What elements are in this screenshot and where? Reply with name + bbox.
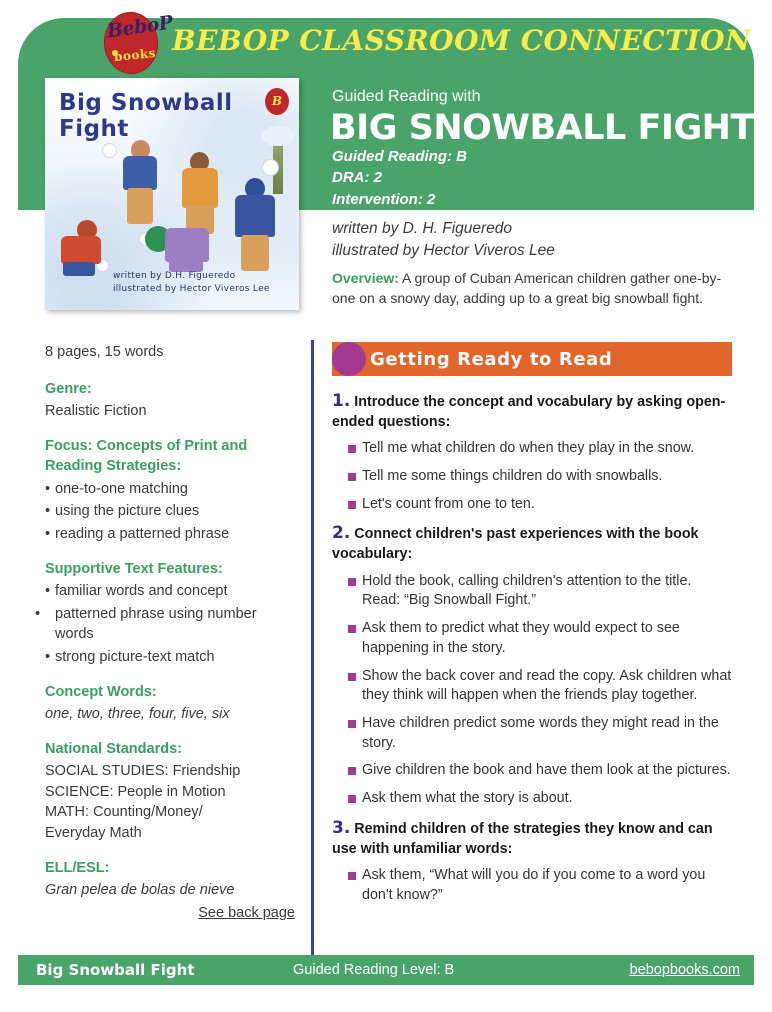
focus-item: •reading a patterned phrase xyxy=(45,524,295,545)
step-bullet-list: Ask them, “What will you do if you come … xyxy=(332,866,732,905)
step-number: 1. xyxy=(332,391,350,411)
list-item: Tell me what children do when they play … xyxy=(332,439,732,459)
square-bullet-icon xyxy=(348,445,356,453)
supportive-item: •familiar words and concept xyxy=(45,581,295,602)
cover-child-figure xyxy=(143,220,213,274)
level-dra: DRA: 2 xyxy=(332,167,467,188)
square-bullet-icon xyxy=(348,872,356,880)
square-bullet-icon xyxy=(348,473,356,481)
step-number: 3. xyxy=(332,818,350,838)
cover-snowball xyxy=(103,144,116,157)
step-heading-text: Connect children's past experiences with… xyxy=(332,526,699,562)
focus-item-label: one-to-one matching xyxy=(55,481,188,497)
guided-reading-with-label: Guided Reading with xyxy=(332,88,481,106)
list-item-label: Let's count from one to ten. xyxy=(362,496,535,512)
square-bullet-icon xyxy=(348,625,356,633)
step-item: 3. Remind children of the strategies the… xyxy=(332,817,732,906)
list-item: Show the back cover and read the copy. A… xyxy=(332,667,732,706)
supportive-item: •patterned phrase using number words xyxy=(45,604,295,645)
square-bullet-icon xyxy=(348,673,356,681)
banner-title: BEBOP CLASSROOM CONNECTION xyxy=(172,24,751,57)
cover-child-figure xyxy=(57,218,113,276)
standard-item: SOCIAL STUDIES: Friendship xyxy=(45,761,295,782)
byline: written by D. H. Figueredo illustrated b… xyxy=(332,218,555,263)
national-standards-list: SOCIAL STUDIES: Friendship SCIENCE: Peop… xyxy=(45,761,295,843)
square-bullet-icon xyxy=(348,578,356,586)
pages-words: 8 pages, 15 words xyxy=(45,342,295,363)
list-item: Have children predict some words they mi… xyxy=(332,714,732,753)
supportive-item-label: strong picture-text match xyxy=(55,649,215,665)
illustrated-by: illustrated by Hector Viveros Lee xyxy=(332,240,555,262)
list-item-label: Tell me some things children do with sno… xyxy=(362,468,662,484)
step-heading-text: Remind children of the strategies they k… xyxy=(332,821,713,857)
list-item-label: Ask them to predict what they would expe… xyxy=(362,620,680,656)
concept-words-heading: Concept Words: xyxy=(45,682,295,703)
cover-snowball xyxy=(263,160,278,175)
standard-item: SCIENCE: People in Motion xyxy=(45,782,295,803)
section-title: Getting Ready to Read xyxy=(370,349,612,370)
bullet-dot-icon: • xyxy=(45,604,55,625)
supportive-item-label: patterned phrase using number words xyxy=(55,606,257,643)
written-by: written by D. H. Figueredo xyxy=(332,218,555,240)
step-heading: 2. Connect children's past experiences w… xyxy=(332,522,732,564)
ell-esl-heading: ELL/ESL: xyxy=(45,858,295,879)
genre-heading: Genre: xyxy=(45,379,295,400)
bullet-dot-icon: • xyxy=(45,479,55,500)
step-heading-text: Introduce the concept and vocabulary by … xyxy=(332,394,725,430)
step-bullet-list: Tell me what children do when they play … xyxy=(332,439,732,514)
ell-esl-value: Gran pelea de bolas de nieve xyxy=(45,880,295,901)
list-item-label: Tell me what children do when they play … xyxy=(362,440,694,456)
supportive-item-label: familiar words and concept xyxy=(55,583,227,599)
concept-words-value: one, two, three, four, five, six xyxy=(45,704,295,725)
list-item-label: Ask them what the story is about. xyxy=(362,790,573,806)
list-item-label: Show the back cover and read the copy. A… xyxy=(362,668,731,704)
reading-levels: Guided Reading: B DRA: 2 Intervention: 2 xyxy=(332,146,467,210)
square-bullet-icon xyxy=(348,795,356,803)
overview-paragraph: Overview: A group of Cuban American chil… xyxy=(332,268,730,309)
footer-book-title: Big Snowball Fight xyxy=(36,961,195,979)
column-divider xyxy=(311,340,314,956)
focus-item: •one-to-one matching xyxy=(45,479,295,500)
bullet-dot-icon: • xyxy=(45,524,55,545)
list-item-label: Hold the book, calling children's attent… xyxy=(362,573,691,609)
overview-label: Overview: xyxy=(332,270,399,286)
list-item: Give children the book and have them loo… xyxy=(332,761,732,781)
getting-ready-section-header: Getting Ready to Read xyxy=(332,342,732,376)
genre-value: Realistic Fiction xyxy=(45,401,295,422)
list-item: Let's count from one to ten. xyxy=(332,495,732,515)
list-item-label: Have children predict some words they mi… xyxy=(362,715,719,751)
national-standards-heading: National Standards: xyxy=(45,739,295,760)
step-heading: 1. Introduce the concept and vocabulary … xyxy=(332,390,732,432)
left-sidebar: 8 pages, 15 words Genre: Realistic Ficti… xyxy=(45,342,295,923)
focus-item-label: using the picture clues xyxy=(55,503,199,519)
cover-title: Big Snowball Fight xyxy=(59,90,299,142)
supportive-item: •strong picture-text match xyxy=(45,647,295,668)
section-knob-icon xyxy=(332,342,349,376)
footer-website-link[interactable]: bebopbooks.com xyxy=(630,962,740,978)
page-footer: Big Snowball Fight Guided Reading Level:… xyxy=(18,955,754,985)
page-title: BIG SNOWBALL FIGHT xyxy=(330,108,754,148)
cover-illustrated-by: illustrated by Hector Viveros Lee xyxy=(113,283,270,296)
list-item: Ask them, “What will you do if you come … xyxy=(332,866,732,905)
cover-credits: written by D.H. Figueredo illustrated by… xyxy=(113,270,270,296)
square-bullet-icon xyxy=(348,767,356,775)
list-item: Hold the book, calling children's attent… xyxy=(332,572,732,611)
level-guided-reading: Guided Reading: B xyxy=(332,146,467,167)
cover-child-figure xyxy=(119,136,163,228)
step-item: 1. Introduce the concept and vocabulary … xyxy=(332,390,732,514)
list-item: Ask them to predict what they would expe… xyxy=(332,619,732,658)
square-bullet-icon xyxy=(348,720,356,728)
see-back-page-link[interactable]: See back page xyxy=(45,903,295,924)
list-item-label: Ask them, “What will you do if you come … xyxy=(362,867,705,903)
list-item-label: Give children the book and have them loo… xyxy=(362,762,731,778)
footer-reading-level: Guided Reading Level: B xyxy=(293,962,454,978)
bullet-dot-icon: • xyxy=(45,581,55,602)
cover-level-badge: B xyxy=(265,88,289,115)
list-item: Ask them what the story is about. xyxy=(332,789,732,809)
bullet-dot-icon: • xyxy=(45,647,55,668)
square-bullet-icon xyxy=(348,501,356,509)
right-content: Getting Ready to Read 1. Introduce the c… xyxy=(332,342,732,913)
cover-child-figure xyxy=(233,176,279,272)
standard-item: Everyday Math xyxy=(45,823,295,844)
step-heading: 3. Remind children of the strategies the… xyxy=(332,817,732,859)
cover-written-by: written by D.H. Figueredo xyxy=(113,270,270,283)
supportive-heading: Supportive Text Features: xyxy=(45,559,295,580)
book-cover-image: Big Snowball Fight B written by D.H. Fig… xyxy=(45,78,299,310)
list-item: Tell me some things children do with sno… xyxy=(332,467,732,487)
step-number: 2. xyxy=(332,523,350,543)
step-item: 2. Connect children's past experiences w… xyxy=(332,522,732,808)
step-bullet-list: Hold the book, calling children's attent… xyxy=(332,572,732,809)
focus-item: •using the picture clues xyxy=(45,501,295,522)
focus-heading: Focus: Concepts of Print and Reading Str… xyxy=(45,436,295,477)
bebop-books-logo: BeboP books xyxy=(100,10,162,76)
bullet-dot-icon: • xyxy=(45,501,55,522)
focus-item-label: reading a patterned phrase xyxy=(55,526,229,542)
level-intervention: Intervention: 2 xyxy=(332,189,467,210)
standard-item: MATH: Counting/Money/ xyxy=(45,802,295,823)
